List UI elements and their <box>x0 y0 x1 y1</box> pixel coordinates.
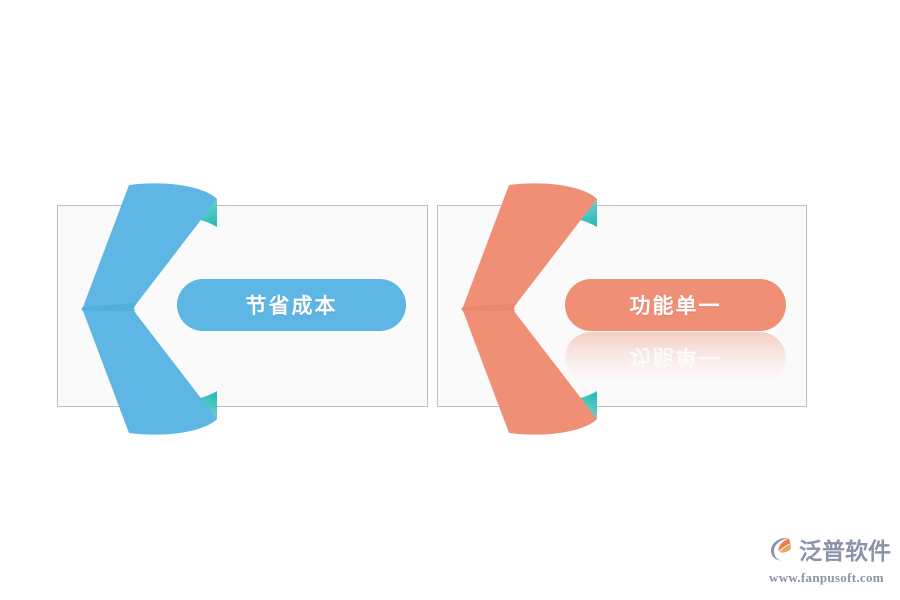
watermark: 泛普软件 www.fanpusoft.com <box>768 536 892 588</box>
fanpu-swirl-logo-icon <box>768 536 796 567</box>
diagram-canvas: 功能单一 <box>0 0 900 600</box>
watermark-brand: 泛普软件 <box>799 540 891 563</box>
pill-left-label[interactable]: 节省成本 <box>177 279 406 331</box>
watermark-top-row: 泛普软件 <box>768 536 891 567</box>
chevron-right-reflection <box>461 435 621 507</box>
pill-right-label[interactable]: 功能单一 <box>565 279 786 331</box>
watermark-url: www.fanpusoft.com <box>769 570 884 586</box>
